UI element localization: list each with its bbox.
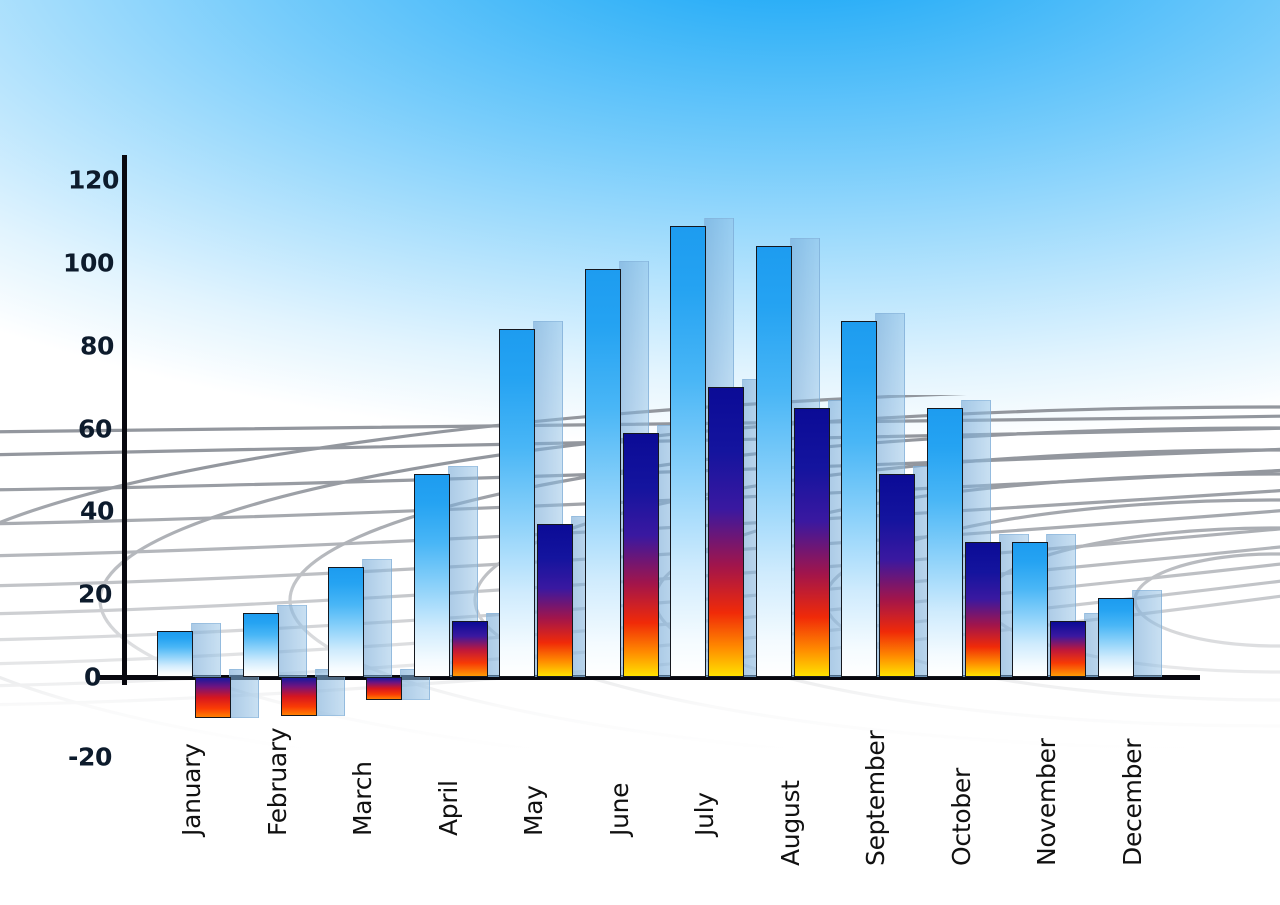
- bar-series2[interactable]: [623, 433, 659, 677]
- bar-series1[interactable]: [841, 321, 877, 677]
- x-axis-tick-label: September: [861, 731, 890, 866]
- y-axis-tick-label: 40: [80, 497, 114, 526]
- bar-series2[interactable]: [879, 474, 915, 677]
- bar-series1[interactable]: [585, 269, 621, 677]
- bar-series1[interactable]: [756, 246, 792, 677]
- plot-area: 120100806040200-20 JanuaryFebruaryMarchA…: [0, 0, 1280, 905]
- bar-series1[interactable]: [1012, 542, 1048, 677]
- x-axis-tick-label: February: [263, 728, 292, 836]
- bar-series1[interactable]: [328, 567, 364, 677]
- bar-side-face: [277, 605, 307, 677]
- chart-root: 120100806040200-20 JanuaryFebruaryMarchA…: [0, 0, 1280, 905]
- bar-series2[interactable]: [1050, 621, 1086, 677]
- y-axis-tick-label: 120: [68, 166, 119, 195]
- bar-series2[interactable]: [366, 677, 402, 700]
- y-axis-tick-label: -20: [68, 743, 112, 772]
- bar-series2[interactable]: [281, 677, 317, 716]
- bar-side-face: [362, 559, 392, 677]
- x-axis-tick-label: June: [605, 783, 634, 836]
- x-axis-tick-label: November: [1032, 738, 1061, 866]
- y-axis-line: [122, 155, 127, 685]
- bar-series2[interactable]: [965, 542, 1001, 677]
- x-axis-tick-label: April: [434, 780, 463, 836]
- y-axis-tick-label: 60: [78, 414, 112, 443]
- bar-series1[interactable]: [670, 226, 706, 677]
- x-axis-tick-label: August: [776, 780, 805, 866]
- x-axis-tick-label: July: [690, 792, 719, 836]
- bar-series2[interactable]: [794, 408, 830, 677]
- y-axis-tick-label: 20: [78, 580, 112, 609]
- y-axis-tick-label: 0: [84, 663, 101, 692]
- x-axis-tick-label: October: [947, 768, 976, 866]
- bar-series2[interactable]: [537, 524, 573, 677]
- bar-series1[interactable]: [499, 329, 535, 677]
- x-axis-tick-label: March: [348, 761, 377, 836]
- bar-side-face: [191, 623, 221, 677]
- bar-series1[interactable]: [927, 408, 963, 677]
- x-axis-tick-label: December: [1118, 739, 1147, 866]
- y-axis-tick-label: 100: [63, 248, 114, 277]
- bar-series1[interactable]: [1098, 598, 1134, 677]
- bar-side-face: [1132, 590, 1162, 677]
- x-axis-tick-label: May: [519, 785, 548, 836]
- bar-series2[interactable]: [452, 621, 488, 677]
- bar-series1[interactable]: [414, 474, 450, 677]
- bar-series1[interactable]: [243, 613, 279, 677]
- bar-series2[interactable]: [195, 677, 231, 718]
- bar-series1[interactable]: [157, 631, 193, 677]
- bar-series2[interactable]: [708, 387, 744, 677]
- x-axis-tick-label: January: [177, 743, 206, 836]
- y-axis-tick-label: 80: [80, 331, 114, 360]
